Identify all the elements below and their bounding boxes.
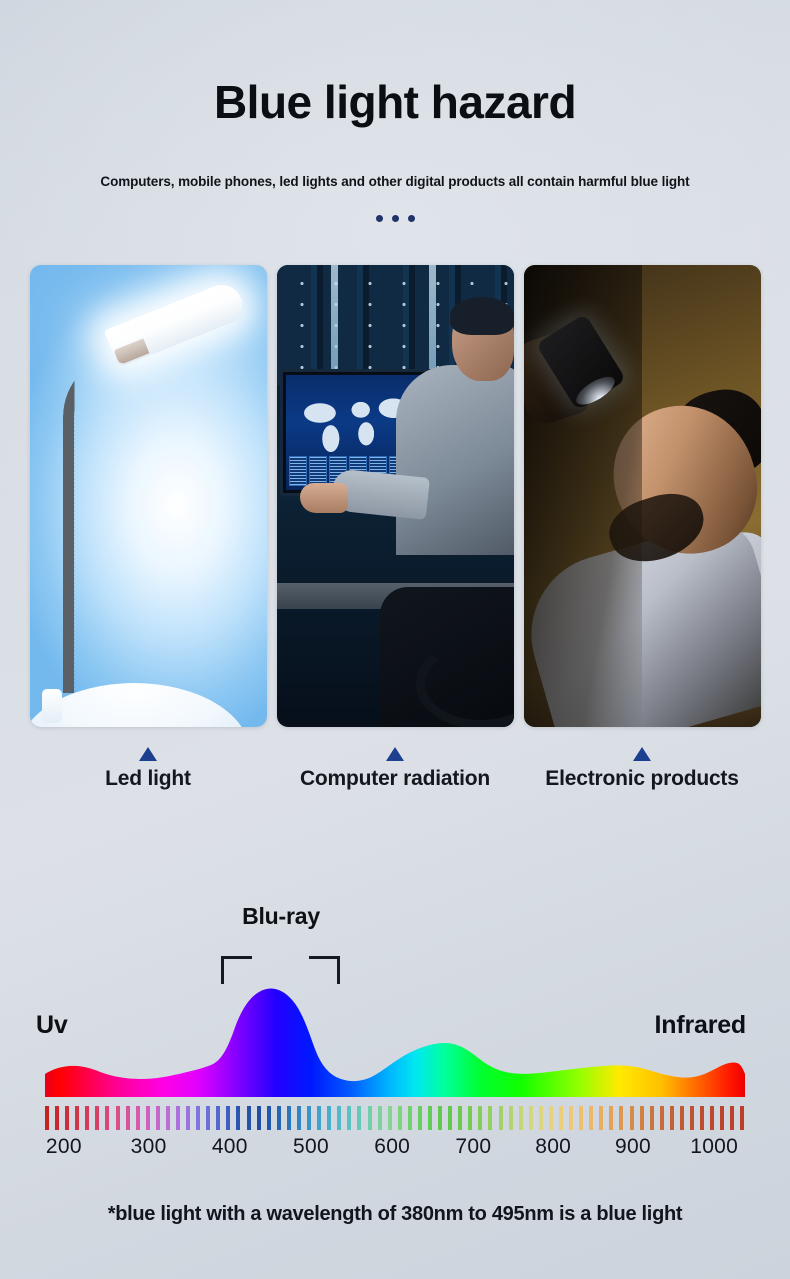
tick [539, 1106, 543, 1130]
tick [499, 1106, 503, 1130]
tick [257, 1106, 261, 1130]
triangle-marker-icon [386, 747, 404, 761]
caption-computer-radiation: Computer radiation [277, 747, 514, 792]
tick [297, 1106, 301, 1130]
tick [55, 1106, 59, 1130]
tick [448, 1106, 452, 1130]
tick [105, 1106, 109, 1130]
axis-tick-label: 700 [455, 1135, 491, 1159]
tick [196, 1106, 200, 1130]
tick [579, 1106, 583, 1130]
page-title: Blue light hazard [0, 78, 790, 126]
dot-2 [392, 215, 399, 222]
tick [65, 1106, 69, 1130]
tick [126, 1106, 130, 1130]
tick [85, 1106, 89, 1130]
data-panel [309, 456, 327, 486]
lamp-foot-icon [42, 689, 62, 723]
data-panel [289, 456, 307, 486]
rack-light-strip-1 [331, 265, 338, 385]
tick [378, 1106, 382, 1130]
tick [730, 1106, 734, 1130]
tick [478, 1106, 482, 1130]
tick [75, 1106, 79, 1130]
tick [599, 1106, 603, 1130]
triangle-marker-icon [633, 747, 651, 761]
spectrum-curve-svg [45, 975, 745, 1097]
caption-label: Computer radiation [277, 767, 514, 792]
tick [609, 1106, 613, 1130]
lamp-neck-icon [52, 353, 64, 693]
caption-label: Electronic products [524, 767, 761, 792]
tick [327, 1106, 331, 1130]
tick [337, 1106, 341, 1130]
dot-3 [408, 215, 415, 222]
office-chair-icon [380, 587, 514, 727]
tick [529, 1106, 533, 1130]
tick [700, 1106, 704, 1130]
triangle-marker-icon [139, 747, 157, 761]
person-hand [300, 483, 348, 513]
tick [549, 1106, 553, 1130]
person-body [396, 365, 514, 555]
tick [640, 1106, 644, 1130]
tick [519, 1106, 523, 1130]
caption-label: Led light [30, 767, 267, 792]
tick [720, 1106, 724, 1130]
tick [206, 1106, 210, 1130]
tick [670, 1106, 674, 1130]
axis-tick-label: 200 [46, 1135, 82, 1159]
axis-tick-label: 300 [131, 1135, 167, 1159]
tick [176, 1106, 180, 1130]
tick [277, 1106, 281, 1130]
panel-computer-room [277, 265, 514, 727]
panel-led-lamp [30, 265, 267, 727]
tick [307, 1106, 311, 1130]
tick [690, 1106, 694, 1130]
panel-phone-in-bed [524, 265, 761, 727]
tick [630, 1106, 634, 1130]
spectrum-axis-labels: 200 300 400 500 600 700 800 900 1000 [45, 1135, 745, 1163]
tick [428, 1106, 432, 1130]
dot-1 [376, 215, 383, 222]
page-header: Blue light hazard Computers, mobile phon… [0, 0, 790, 222]
tick [509, 1106, 513, 1130]
tick [247, 1106, 251, 1130]
tick [236, 1106, 240, 1130]
tick [287, 1106, 291, 1130]
axis-tick-label: 600 [374, 1135, 410, 1159]
decorative-dots [0, 215, 790, 222]
spectrum-curve [45, 975, 745, 1097]
tick [388, 1106, 392, 1130]
axis-tick-label: 500 [293, 1135, 329, 1159]
tick [267, 1106, 271, 1130]
blu-ray-label: Blu-ray [0, 903, 676, 930]
image-panel-row [0, 265, 790, 727]
tick [166, 1106, 170, 1130]
tick [226, 1106, 230, 1130]
person-at-computer [400, 301, 514, 631]
tick [488, 1106, 492, 1130]
tick [317, 1106, 321, 1130]
axis-tick-label: 1000 [690, 1135, 738, 1159]
tick [619, 1106, 623, 1130]
tick [45, 1106, 49, 1130]
tick [216, 1106, 220, 1130]
tick [589, 1106, 593, 1130]
caption-electronic-products: Electronic products [524, 747, 761, 792]
tick [146, 1106, 150, 1130]
tick [650, 1106, 654, 1130]
tick [710, 1106, 714, 1130]
spectrum-tick-strip [45, 1106, 745, 1130]
tick [438, 1106, 442, 1130]
person-hair [450, 297, 514, 335]
tick [468, 1106, 472, 1130]
tick [156, 1106, 160, 1130]
tick [458, 1106, 462, 1130]
tick [559, 1106, 563, 1130]
caption-row: Led light Computer radiation Electronic … [0, 747, 790, 792]
tick [347, 1106, 351, 1130]
caption-led-light: Led light [30, 747, 267, 792]
tick [569, 1106, 573, 1130]
tick [660, 1106, 664, 1130]
lamp-head-icon [103, 279, 248, 369]
axis-tick-label: 400 [212, 1135, 248, 1159]
tick [680, 1106, 684, 1130]
tick [357, 1106, 361, 1130]
tick [116, 1106, 120, 1130]
tick [95, 1106, 99, 1130]
tick [408, 1106, 412, 1130]
tick [136, 1106, 140, 1130]
page-subtitle: Computers, mobile phones, led lights and… [0, 174, 790, 189]
axis-tick-label: 800 [535, 1135, 571, 1159]
chair-base [416, 639, 514, 727]
tick [740, 1106, 744, 1130]
tick [186, 1106, 190, 1130]
tick [398, 1106, 402, 1130]
tick [418, 1106, 422, 1130]
axis-tick-label: 900 [615, 1135, 651, 1159]
footnote-text: *blue light with a wavelength of 380nm t… [0, 1203, 790, 1226]
tick [368, 1106, 372, 1130]
